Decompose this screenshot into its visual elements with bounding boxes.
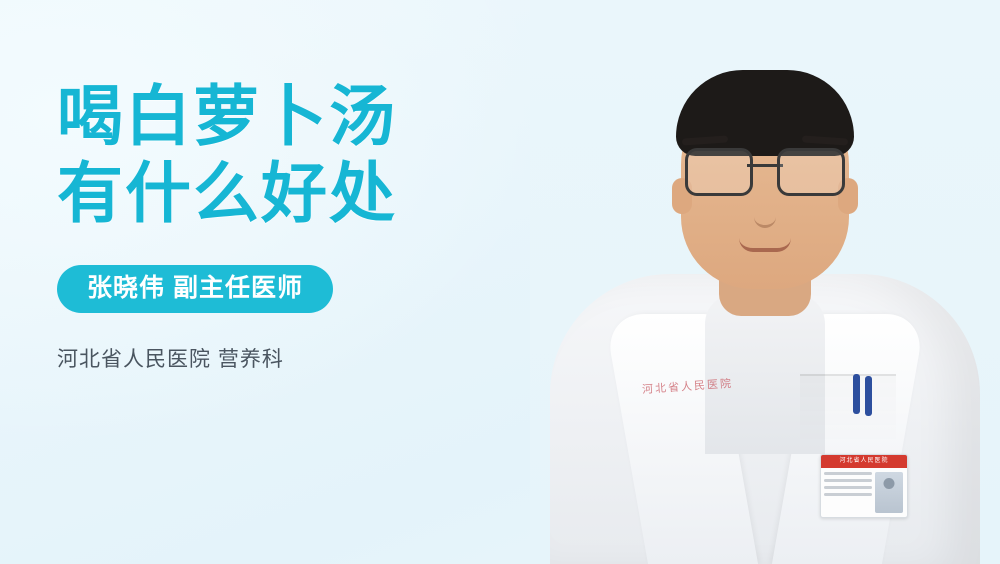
id-badge-line <box>824 493 872 496</box>
glasses-lens-left <box>685 148 753 196</box>
id-badge-line <box>824 479 872 482</box>
doctor-name-badge: 张晓伟 副主任医师 <box>57 265 333 313</box>
id-badge-body <box>821 468 907 517</box>
mouth <box>739 238 791 252</box>
glasses-icon <box>685 148 845 192</box>
coat-pocket <box>800 374 896 446</box>
nose <box>754 203 776 228</box>
glasses-lens-right <box>777 148 845 196</box>
id-badge-line <box>824 486 872 489</box>
doctor-figure: 河北省人民医院 河北省人民医院 <box>530 0 1000 564</box>
id-badge-header: 河北省人民医院 <box>821 455 907 468</box>
page-title: 喝白萝卜汤 有什么好处 <box>57 78 577 231</box>
id-badge: 河北省人民医院 <box>820 454 908 518</box>
doctor-photo: 河北省人民医院 河北省人民医院 <box>530 0 1000 564</box>
video-cover-card: 喝白萝卜汤 有什么好处 张晓伟 副主任医师 河北省人民医院 营养科 <box>0 0 1000 564</box>
id-badge-photo <box>875 472 903 513</box>
id-badge-lines <box>821 468 875 517</box>
headline-line-1: 喝白萝卜汤 <box>57 78 577 155</box>
pen-icon-1 <box>853 374 860 414</box>
doctor-affiliation: 河北省人民医院 营养科 <box>57 343 577 373</box>
id-badge-line <box>824 472 872 475</box>
pen-icon-2 <box>865 376 872 416</box>
text-block: 喝白萝卜汤 有什么好处 张晓伟 副主任医师 河北省人民医院 营养科 <box>57 78 577 373</box>
headline-line-2: 有什么好处 <box>57 155 577 232</box>
